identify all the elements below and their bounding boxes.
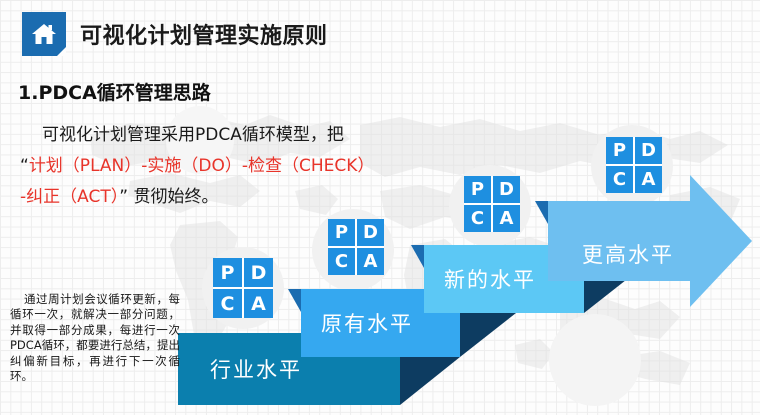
pdca-cell-p: P [213, 258, 242, 287]
body-line-1: 可视化计划管理采用PDCA循环模型，把 [20, 120, 460, 151]
step-1-label: 行业水平 [210, 354, 302, 384]
pdca-cell-d: D [493, 176, 520, 203]
pdca-cell-a: A [357, 248, 384, 275]
pdca-tile-1[interactable]: P D C A [213, 258, 273, 318]
pdca-grid-1: P D C A [213, 258, 273, 318]
pdca-tile-4[interactable]: P D C A [606, 137, 662, 193]
pdca-cell-d: D [357, 219, 384, 246]
note-text: 通过周计划会议循环更新，每循环一次，就解决一部分问题，并取得一部分成果，每进行一… [10, 292, 180, 383]
step-3-label: 新的水平 [444, 264, 536, 294]
pdca-cell-a: A [244, 289, 273, 318]
slide-header: 可视化计划管理实施原则 [22, 12, 328, 56]
pdca-cell-p: P [328, 219, 355, 246]
body-line-2-highlight: 计划（PLAN）-实施（DO）-检查（CHECK） [29, 156, 375, 176]
pdca-cell-d: D [244, 258, 273, 287]
body-line-3-highlight: -纠正（ACT） [20, 187, 119, 207]
quote-close: ” [119, 187, 128, 207]
body-line-3: -纠正（ACT）” 贯彻始终。 [20, 182, 460, 213]
pdca-grid-2: P D C A [328, 219, 384, 275]
pdca-cell-c: C [328, 248, 355, 275]
page-title: 可视化计划管理实施原则 [80, 18, 328, 50]
quote-open: “ [20, 156, 29, 176]
body-paragraph: 可视化计划管理采用PDCA循环模型，把 “计划（PLAN）-实施（DO）-检查（… [20, 120, 460, 213]
step-4[interactable]: 更高水平 [548, 201, 752, 307]
pdca-cell-p: P [464, 176, 491, 203]
pdca-tile-3[interactable]: P D C A [464, 176, 520, 232]
pdca-cell-c: C [606, 166, 633, 193]
pdca-cell-a: A [635, 166, 662, 193]
section-heading: 1.PDCA循环管理思路 [18, 78, 211, 105]
pdca-cell-p: P [606, 137, 633, 164]
step-2-label: 原有水平 [321, 308, 413, 338]
body-line-2: “计划（PLAN）-实施（DO）-检查（CHECK） [20, 151, 460, 182]
pdca-tile-2[interactable]: P D C A [328, 219, 384, 275]
pdca-cell-c: C [213, 289, 242, 318]
badge-fold-corner [57, 47, 66, 56]
pdca-grid-3: P D C A [464, 176, 520, 232]
pdca-cell-d: D [635, 137, 662, 164]
slide-canvas: 可视化计划管理实施原则 1.PDCA循环管理思路 可视化计划管理采用PDCA循环… [0, 0, 760, 415]
note-block: 通过周计划会议循环更新，每循环一次，就解决一部分问题，并取得一部分成果，每进行一… [10, 292, 180, 384]
step-4-label: 更高水平 [582, 239, 674, 269]
pdca-cell-c: C [464, 205, 491, 232]
home-icon [31, 22, 57, 46]
step-4-body: 更高水平 [548, 201, 752, 307]
body-line-3-tail: 贯彻始终。 [128, 187, 218, 207]
pdca-cell-a: A [493, 205, 520, 232]
pdca-grid-4: P D C A [606, 137, 662, 193]
home-icon-badge [22, 12, 66, 56]
